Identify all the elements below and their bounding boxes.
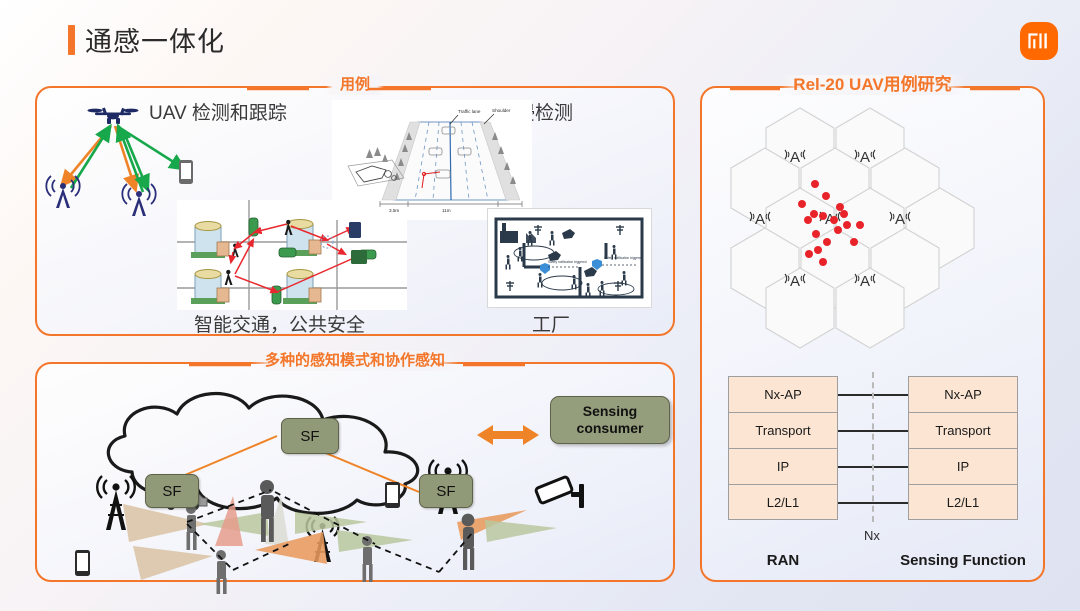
stack-cell-left-0: Nx-AP xyxy=(728,376,838,412)
svg-text:11m: 11m xyxy=(442,208,451,213)
svg-text:Traffic lane: Traffic lane xyxy=(458,109,481,114)
page-title: 通感一体化 xyxy=(85,20,225,59)
sensing-consumer-box[interactable]: Sensing consumer xyxy=(550,396,670,444)
phone-icon-a xyxy=(385,482,400,508)
page-header: 通感一体化 xyxy=(68,20,225,59)
stack-cell-right-0: Nx-AP xyxy=(908,376,1018,412)
nx-interface-divider xyxy=(872,372,874,522)
svg-text:Safety notification triggered: Safety notification triggered xyxy=(548,260,587,264)
sf-node-right[interactable]: SF xyxy=(419,474,473,508)
stack-foot-ran: RAN xyxy=(728,552,838,569)
figure-highway-intrusion: Traffic lane Shoulder 3.5m 11m 2.5m xyxy=(332,100,532,220)
panel-sensing-modes: 多种的感知模式和协作感知 xyxy=(35,362,675,582)
figure-hex-cell-grid: A A A A xyxy=(722,102,1027,354)
stack-cell-left-3: L2/L1 xyxy=(728,484,838,520)
svg-text:A: A xyxy=(790,273,800,290)
protocol-stack-left: Nx-AP Transport IP L2/L1 xyxy=(728,376,838,520)
panel-rel20-title-rules xyxy=(702,85,1047,93)
figure-uav-detection xyxy=(51,96,241,216)
label-factory: 工厂 xyxy=(532,310,570,337)
sensing-consumer-line1: Sensing xyxy=(577,403,644,420)
stack-cell-right-3: L2/L1 xyxy=(908,484,1018,520)
stack-cell-right-1: Transport xyxy=(908,412,1018,448)
figure-factory: Safety notification triggered Safety not… xyxy=(487,208,652,308)
svg-text:A: A xyxy=(895,211,905,228)
protocol-stack-right: Nx-AP Transport IP L2/L1 xyxy=(908,376,1018,520)
svg-text:A: A xyxy=(860,273,870,290)
sf-node-left[interactable]: SF xyxy=(145,474,199,508)
camera-icon xyxy=(535,476,584,508)
phone-icon-b xyxy=(75,550,90,576)
title-accent-bar xyxy=(68,25,75,55)
nx-interface-label: Nx xyxy=(864,528,880,543)
svg-text:A: A xyxy=(790,149,800,166)
xiaomi-logo xyxy=(1020,22,1058,60)
phone-icon xyxy=(179,160,193,184)
panel-title-rules xyxy=(37,85,677,93)
sf-node-top[interactable]: SF xyxy=(281,418,339,454)
bidirectional-arrow-icon xyxy=(477,422,549,452)
svg-text:A: A xyxy=(860,149,870,166)
stack-cell-left-1: Transport xyxy=(728,412,838,448)
svg-text:A: A xyxy=(755,211,765,228)
stack-cell-left-2: IP xyxy=(728,448,838,484)
svg-text:Shoulder: Shoulder xyxy=(492,108,511,113)
panel-use-cases: 用例 UAV 检测和跟踪 入侵检测 智能交通，公共安全 工厂 xyxy=(35,86,675,336)
label-smart-traffic: 智能交通，公共安全 xyxy=(194,310,365,337)
svg-text:Safety notification triggered: Safety notification triggered xyxy=(604,256,643,260)
stack-cell-right-2: IP xyxy=(908,448,1018,484)
stack-foot-sensing-function: Sensing Function xyxy=(878,552,1048,569)
panel-rel20-uav: Rel-20 UAV用例研究 A xyxy=(700,86,1045,582)
sensing-consumer-line2: consumer xyxy=(577,420,644,437)
svg-text:3.5m: 3.5m xyxy=(389,208,399,213)
